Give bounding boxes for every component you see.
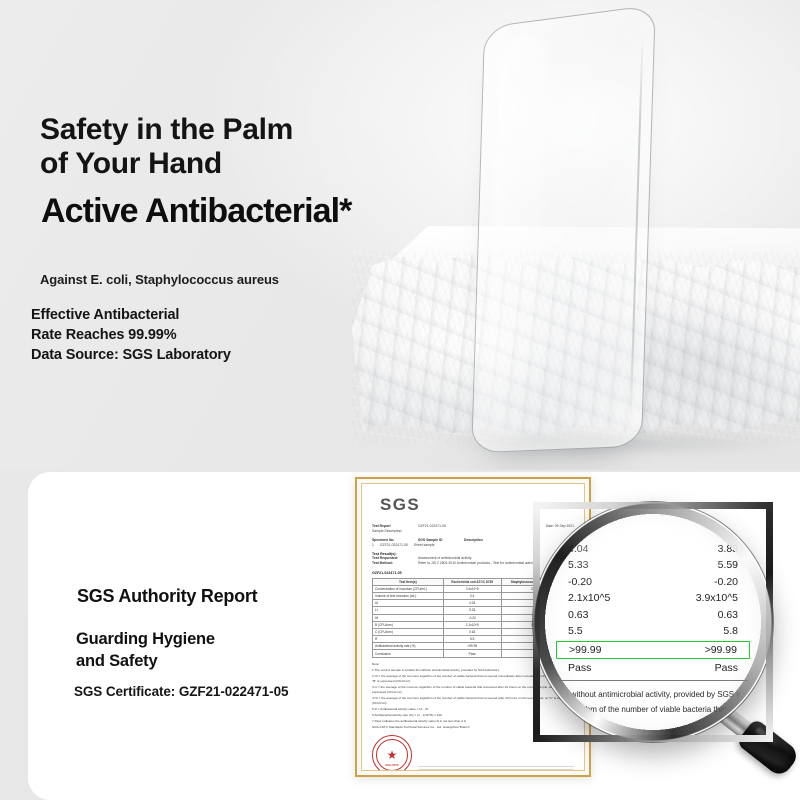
magnified-row: 5.5 5.8 [556, 625, 750, 638]
mag-value-right: Pass [715, 662, 738, 675]
magnified-table: 4.04 3.83 5.33 5.59 -0.20 -0.20 2.1x10^5… [540, 509, 766, 735]
doc-method-label: Test Method: [372, 561, 412, 566]
doc-cell-label: Concentration of inoculum (CFU/mL) [373, 585, 444, 592]
highlighted-result-row: >99.99 >99.99 [556, 641, 750, 658]
doc-cell-label: Volume of test inoculum (mL) [373, 592, 444, 599]
mag-value-right: 5.8 [723, 625, 738, 638]
signature-line [418, 769, 574, 771]
magnified-row: 5.33 5.59 [556, 559, 750, 572]
doc-cell-ecoli: 0.63 [443, 628, 501, 635]
signature-line [418, 766, 574, 768]
screen-protector-glass [471, 4, 656, 453]
mag-footnote: m²). [560, 718, 746, 733]
mag-footnote: logarithm of the number of viable bacter… [560, 703, 746, 718]
magnified-row: 4.04 3.83 [556, 543, 750, 556]
report-card-subtitle: Guarding Hygiene and Safety [76, 629, 215, 673]
doc-cell-ecoli: 0.4 [443, 592, 501, 599]
doc-footer: ★ SGS-CSTC [372, 735, 574, 771]
sgs-red-seal-stamp: ★ SGS-CSTC [372, 735, 412, 771]
doc-cell-label: Antibacterial activity rate (%) [373, 643, 444, 650]
doc-cell-ecoli: 4.04 [443, 600, 501, 607]
seal-caption: SGS-CSTC [373, 764, 411, 767]
mag-value-right: 3.9x10^5 [696, 592, 738, 605]
doc-cell-label: C (CFU/cm²) [373, 628, 444, 635]
doc-cell-label: Lt [373, 607, 444, 614]
doc-cell-label: Ht [373, 614, 444, 621]
mag-footnote: lm without antimicrobial activity, provi… [560, 688, 746, 703]
hero-copy-block: Safety in the Palm of Your Hand Active A… [0, 0, 420, 470]
magnified-row: -0.20 -0.20 [556, 576, 750, 589]
magnified-footnotes: lm without antimicrobial activity, provi… [556, 688, 750, 742]
hero-claim-text: Against E. coli, Staphylococcus aureus [40, 272, 279, 287]
mag-value-left: 5.5 [568, 625, 583, 638]
hero-section: Safety in the Palm of Your Hand Active A… [0, 0, 800, 470]
doc-cell-ecoli: -0.20 [443, 614, 501, 621]
doc-cell-ecoli: Pass [443, 650, 501, 657]
lens-glass: 4.04 3.83 5.33 5.59 -0.20 -0.20 2.1x10^5… [533, 502, 773, 742]
doc-cell-label: Ut [373, 600, 444, 607]
doc-sample-id-value: GZF21-022471-05 [380, 543, 408, 548]
mag-value-right: 0.63 [718, 609, 738, 622]
doc-cell-ecoli: 5.5 [443, 636, 501, 643]
doc-cell-ecoli: 3.4x10^5 [443, 585, 501, 592]
doc-description-header: Description [464, 538, 504, 543]
mag-value-right: -0.20 [714, 576, 738, 589]
doc-description-value: Sheet sample [414, 543, 435, 548]
mag-value-right: 3.83 [718, 543, 738, 556]
product-poster: Safety in the Palm of Your Hand Active A… [0, 0, 800, 800]
mag-value-right: >99.99 [705, 644, 737, 657]
magnifier-lens: 4.04 3.83 5.33 5.59 -0.20 -0.20 2.1x10^5… [533, 502, 763, 732]
magnified-row: Pass Pass [556, 662, 750, 675]
magnified-row: 0.63 0.63 [556, 609, 750, 622]
mag-value-left: 4.04 [568, 543, 588, 556]
report-card-title: SGS Authority Report [77, 586, 257, 607]
report-card-certificate-number: SGS Certificate: GZF21-022471-05 [74, 684, 288, 699]
doc-cell-label: B (CFU/cm²) [373, 621, 444, 628]
doc-signature-lines [418, 766, 574, 771]
doc-cell-ecoli: 2.1x10^5 [443, 621, 501, 628]
mag-value-left: 0.63 [568, 609, 588, 622]
hero-headline: Safety in the Palm of Your Hand [40, 113, 293, 181]
magnified-row: 2.1x10^5 3.9x10^5 [556, 592, 750, 605]
doc-report-number: GZF21-022471-05 [418, 524, 446, 529]
doc-col-test-item: Test Item(s) [373, 578, 444, 585]
doc-specimen-no-value: 1 [372, 543, 374, 548]
mag-value-left: Pass [568, 662, 591, 675]
magnified-divider [558, 680, 748, 681]
doc-method-value: Refer to JIS Z 2801:2010 Antimicrobial p… [418, 561, 535, 566]
report-card: SGS Authority Report Guarding Hygiene an… [28, 472, 800, 800]
star-icon: ★ [387, 749, 398, 761]
hero-stats-text: Effective Antibacterial Rate Reaches 99.… [31, 305, 231, 365]
mag-value-right: 5.59 [718, 559, 738, 572]
mag-value-left: 2.1x10^5 [568, 592, 610, 605]
doc-cell-ecoli: >99.99 [443, 643, 501, 650]
doc-cell-label: R [373, 636, 444, 643]
mag-value-left: >99.99 [569, 644, 601, 657]
doc-col-ecoli: Escherichia coli ATCC 8739 [443, 578, 501, 585]
doc-cell-ecoli: 5.33 [443, 607, 501, 614]
report-card-copy: SGS Authority Report Guarding Hygiene an… [28, 472, 358, 800]
doc-cell-label: Conclusion [373, 650, 444, 657]
mag-value-left: 5.33 [568, 559, 588, 572]
doc-sample-desc-label: Sample Description: [372, 529, 402, 534]
mag-value-left: -0.20 [568, 576, 592, 589]
hero-subheadline: Active Antibacterial* [41, 192, 352, 231]
